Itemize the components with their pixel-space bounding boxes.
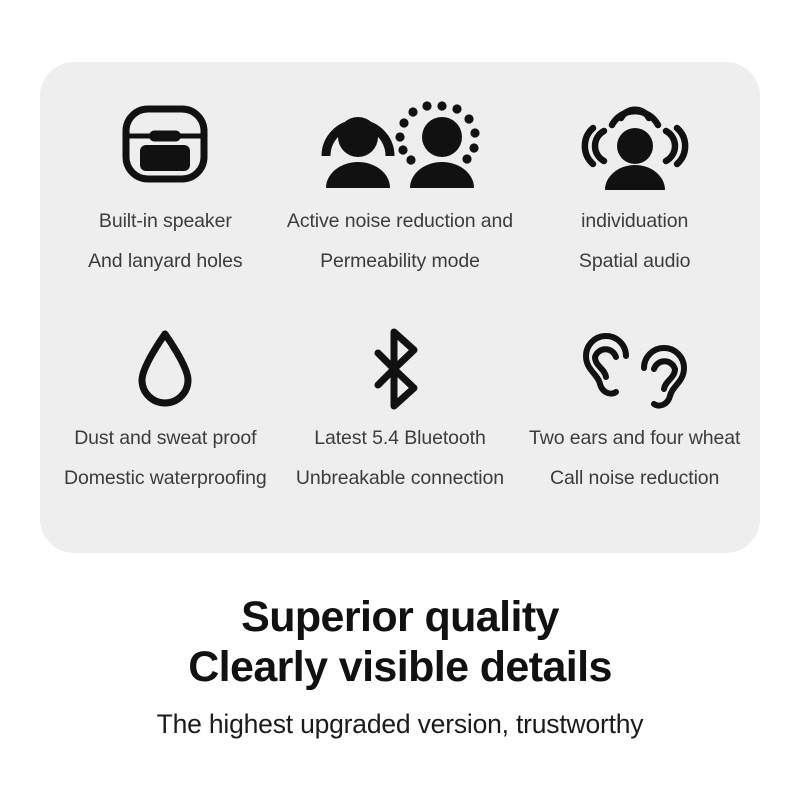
feature-label-line1: Active noise reduction and — [287, 212, 513, 232]
feature-item-waterproof: Dust and sweat proof Domestic waterproof… — [48, 311, 283, 536]
feature-label-line2: Unbreakable connection — [296, 469, 504, 489]
feature-item-noise-reduction: Active noise reduction and Permeability … — [283, 86, 518, 311]
feature-label-line1: Built-in speaker — [99, 212, 232, 232]
spatial-audio-person-icon — [580, 92, 690, 196]
noise-reduction-two-persons-icon — [312, 92, 488, 196]
feature-label-line1: individuation — [581, 212, 688, 232]
headline-line2: Clearly visible details — [0, 642, 800, 692]
feature-item-bluetooth: Latest 5.4 Bluetooth Unbreakable connect… — [283, 311, 518, 536]
feature-label-line1: Dust and sweat proof — [74, 429, 256, 449]
feature-label-line2: And lanyard holes — [88, 252, 242, 272]
headline-block: Superior quality Clearly visible details… — [0, 592, 800, 739]
product-feature-infographic: Built-in speaker And lanyard holes — [0, 0, 800, 800]
feature-grid: Built-in speaker And lanyard holes — [40, 62, 760, 553]
two-ears-icon — [580, 321, 690, 417]
feature-label-line2: Call noise reduction — [550, 469, 719, 489]
feature-label-line1: Two ears and four wheat — [529, 429, 740, 449]
feature-label-line2: Permeability mode — [320, 252, 480, 272]
feature-label-line1: Latest 5.4 Bluetooth — [314, 429, 485, 449]
feature-item-built-in-speaker: Built-in speaker And lanyard holes — [48, 86, 283, 311]
feature-label-line2: Spatial audio — [579, 252, 690, 272]
earbuds-charging-case-icon — [119, 92, 211, 196]
feature-item-two-ears: Two ears and four wheat Call noise reduc… — [517, 311, 752, 536]
tagline: The highest upgraded version, trustworth… — [0, 709, 800, 739]
feature-item-spatial-audio: individuation Spatial audio — [517, 86, 752, 311]
bluetooth-icon — [368, 321, 432, 417]
feature-panel: Built-in speaker And lanyard holes — [40, 62, 760, 553]
water-droplet-icon — [134, 321, 196, 417]
headline-line1: Superior quality — [0, 592, 800, 642]
feature-label-line2: Domestic waterproofing — [64, 469, 267, 489]
